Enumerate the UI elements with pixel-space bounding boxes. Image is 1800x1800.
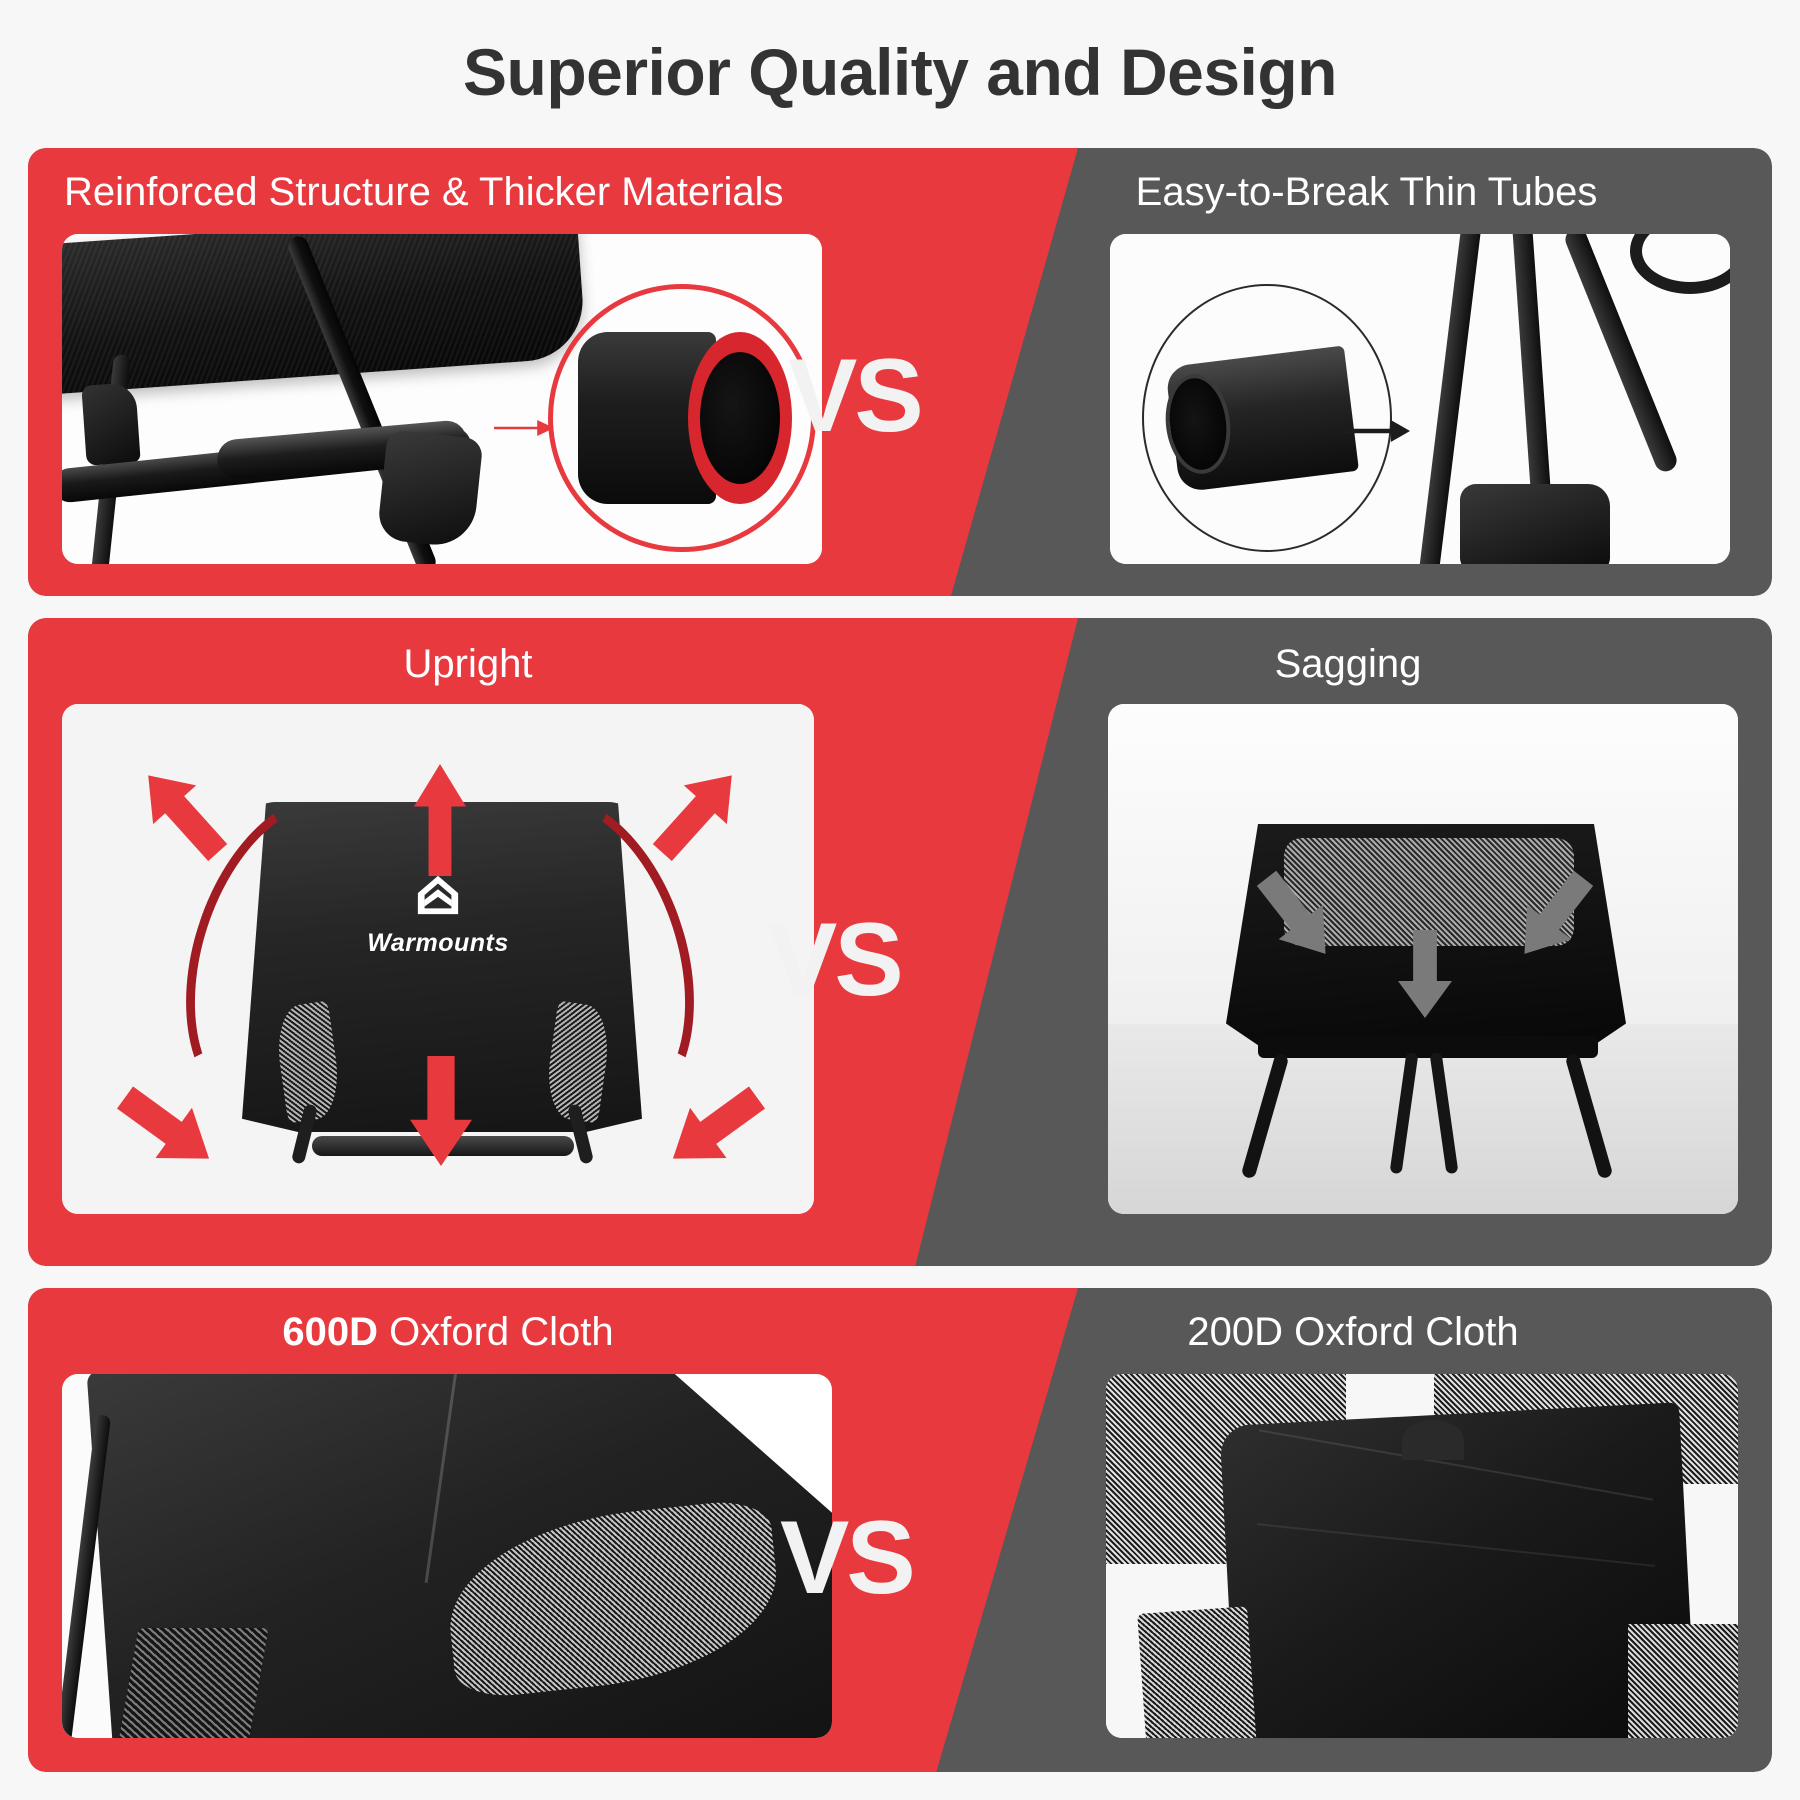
- con-header-posture: Sagging: [978, 642, 1718, 687]
- thick-tube-detail: [578, 332, 792, 504]
- photo-canvas: [1108, 704, 1738, 1214]
- pro-image-posture: Warmounts: [62, 704, 814, 1214]
- pro-image-structure: [62, 234, 822, 564]
- photo-canvas: [62, 1374, 832, 1738]
- brand-name: Warmounts: [62, 929, 814, 958]
- vs-label-fabric: VS: [780, 1506, 913, 1610]
- chair-hoop: [1630, 234, 1730, 294]
- house-chevron-logo-icon: [415, 872, 461, 918]
- chair-seat-bar: [1258, 1036, 1598, 1058]
- chair-joint-hub: [1460, 484, 1610, 564]
- tube-bore: [700, 352, 780, 484]
- callout-arrow-icon: [494, 420, 554, 436]
- infographic-page: Superior Quality and Design Reinforced S…: [0, 0, 1800, 1800]
- vs-label-posture: VS: [768, 908, 901, 1012]
- fabric-tab: [1402, 1420, 1464, 1460]
- mesh-side-pocket: [117, 1628, 268, 1738]
- chair-joint-hub: [377, 429, 484, 548]
- pro-header-structure: Reinforced Structure & Thicker Materials: [64, 170, 784, 215]
- brand-logo-block: Warmounts: [62, 872, 814, 958]
- con-image-structure: [1110, 234, 1730, 564]
- arrow-up-left-icon: [127, 756, 240, 872]
- comparison-row-structure: Reinforced Structure & Thicker Materials…: [28, 148, 1772, 596]
- con-header-fabric: 200D Oxford Cloth: [973, 1310, 1733, 1355]
- arrow-down-left-icon: [107, 1072, 228, 1183]
- con-image-posture: [1108, 704, 1738, 1214]
- photo-canvas: [1106, 1374, 1738, 1738]
- pro-header-fabric: 600D Oxford Cloth: [28, 1310, 868, 1355]
- con-image-fabric: [1106, 1374, 1738, 1738]
- photo-canvas: [1110, 234, 1730, 564]
- pro-image-fabric: [62, 1374, 832, 1738]
- photo-canvas: Warmounts: [62, 704, 814, 1214]
- mesh-panel-bottom-left: [1137, 1606, 1256, 1738]
- photo-canvas: [62, 234, 822, 564]
- comparison-row-posture: Upright Sagging: [28, 618, 1772, 1266]
- con-header-structure: Easy-to-Break Thin Tubes: [994, 170, 1739, 215]
- pro-header-posture: Upright: [28, 642, 908, 687]
- arrow-up-right-icon: [641, 756, 754, 872]
- fabric-header-rest: Oxford Cloth: [378, 1310, 614, 1354]
- page-title: Superior Quality and Design: [0, 34, 1800, 110]
- mesh-panel-bottom-right: [1628, 1624, 1738, 1738]
- vs-label-structure: VS: [788, 344, 921, 448]
- comparison-row-fabric: 600D Oxford Cloth 200D Oxford Cloth: [28, 1288, 1772, 1772]
- chair-bracket: [81, 382, 140, 466]
- arrow-down-right-icon: [655, 1072, 776, 1183]
- fabric-denier-value: 600D: [282, 1310, 378, 1354]
